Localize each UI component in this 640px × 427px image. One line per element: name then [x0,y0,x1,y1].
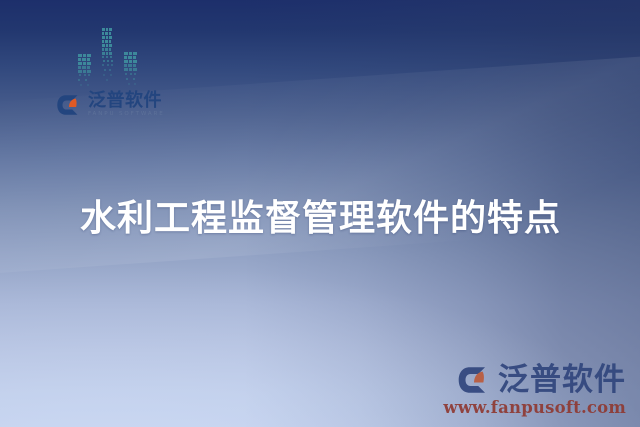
brand-name-en: FANPU SOFTWARE [88,112,165,118]
watermark-brand-name: 泛普软件 [498,365,626,396]
fanpu-logo-icon [457,363,491,397]
fanpu-logo-icon [56,92,82,118]
pixel-cityscape-icon [76,26,158,92]
watermark-logo-row: 泛普软件 [428,363,626,397]
presentation-slide: 泛普软件 FANPU SOFTWARE 水利工程监督管理软件的特点 泛普软件 w… [0,0,640,427]
brand-text: 泛普软件 FANPU SOFTWARE [88,92,165,118]
watermark: 泛普软件 www.fanpusoft.com [428,363,626,417]
watermark-url: www.fanpusoft.com [428,398,626,417]
brand-name-cn: 泛普软件 [88,92,165,110]
background-diagonal-sheen [0,48,640,276]
brand-logo: 泛普软件 FANPU SOFTWARE [56,92,165,118]
slide-title: 水利工程监督管理软件的特点 [80,189,561,241]
